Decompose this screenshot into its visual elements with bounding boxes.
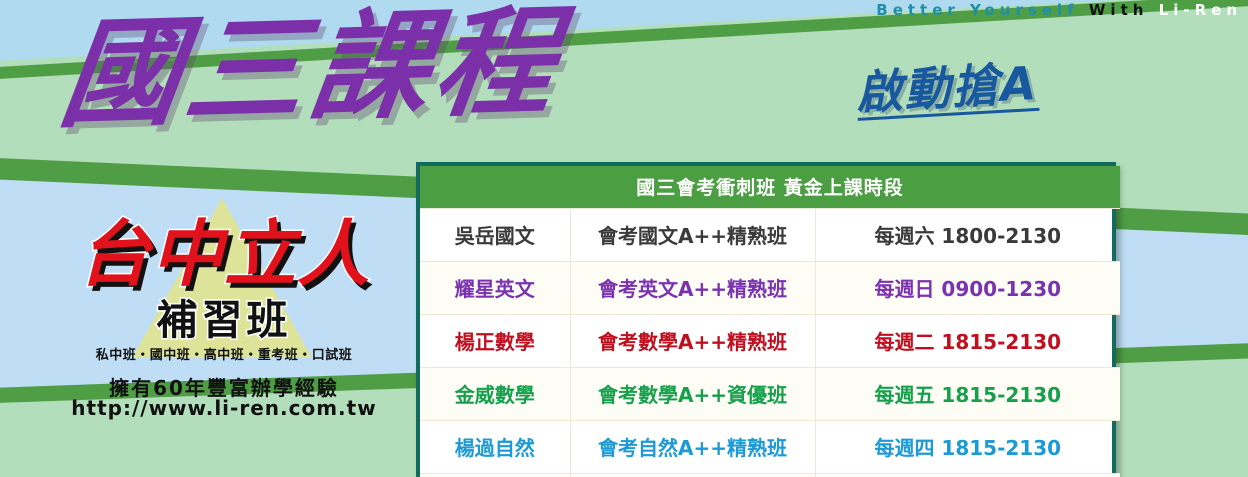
cell-course: 會考數學A++資優班 [570,368,815,421]
tagline-part-2: With [1089,1,1149,19]
cell-teacher: 耀星英文 [420,262,570,315]
schedule-table-container: 國三會考衝刺班 黃金上課時段 吳岳國文會考國文A++精熟班每週六 1800-21… [416,162,1116,477]
tagline-part-3: Li-Ren [1159,1,1242,19]
cell-time: 每週二 1815-2130 [815,315,1120,368]
cell-time: 每週日 0900-1230 [815,262,1120,315]
cell-teacher: 吳岳國文 [420,209,570,262]
cell-course: 會考英文A++精熟班 [570,262,815,315]
table-header-row: 國三會考衝刺班 黃金上課時段 [420,166,1120,209]
cell-course: 會考自然A++精熟班 [570,421,815,474]
cell-teacher: 楊正數學 [420,315,570,368]
table-row: 楊過自然會考自然A++精熟班每週四 1815-2130 [420,421,1120,474]
schedule-table: 國三會考衝刺班 黃金上課時段 吳岳國文會考國文A++精熟班每週六 1800-21… [420,166,1120,477]
tagline-part-1: Better Yourself [876,1,1078,19]
table-row: 耀星英文會考英文A++精熟班每週日 0900-1230 [420,262,1120,315]
table-row: 金威數學會考數學A++資優班每週五 1815-2130 [420,368,1120,421]
cell-time: 每週五 1815-2130 [815,368,1120,421]
logo: 台中立人 補習班 私中班・國中班・高中班・重考班・口試班 擁有60年豐富辦學經驗… [44,196,404,421]
cell-teacher: 林大雄社會 [420,474,570,477]
schedule-table-body: 吳岳國文會考國文A++精熟班每週六 1800-2130耀星英文會考英文A++精熟… [420,209,1120,477]
logo-name-main: 台中立人 [44,218,404,290]
promo-banner: Better Yourself With Li-Ren 國三課程 啟動搶A 台中… [0,0,1248,477]
cell-time: 每週六 1800-2130 [815,209,1120,262]
table-row: 楊正數學會考數學A++精熟班每週二 1815-2130 [420,315,1120,368]
cell-teacher: 金威數學 [420,368,570,421]
schedule-header-title: 國三會考衝刺班 黃金上課時段 [420,166,1120,209]
cell-course: 會考社會A++精熟班 [570,474,815,477]
logo-name-sub: 補習班 [44,300,404,341]
table-row: 林大雄社會會考社會A++精熟班每週日 1330-1700 [420,474,1120,477]
tagline: Better Yourself With Li-Ren [876,1,1242,19]
cell-time: 每週日 1330-1700 [815,474,1120,477]
cell-course: 會考數學A++精熟班 [570,315,815,368]
cell-time: 每週四 1815-2130 [815,421,1120,474]
page-subtitle: 啟動搶A [855,60,1039,121]
cell-teacher: 楊過自然 [420,421,570,474]
logo-course-tracks: 私中班・國中班・高中班・重考班・口試班 [44,344,404,363]
cell-course: 會考國文A++精熟班 [570,209,815,262]
logo-website-url[interactable]: http://www.li-ren.com.tw [44,396,404,420]
table-row: 吳岳國文會考國文A++精熟班每週六 1800-2130 [420,209,1120,262]
page-title: 國三課程 [55,2,568,134]
